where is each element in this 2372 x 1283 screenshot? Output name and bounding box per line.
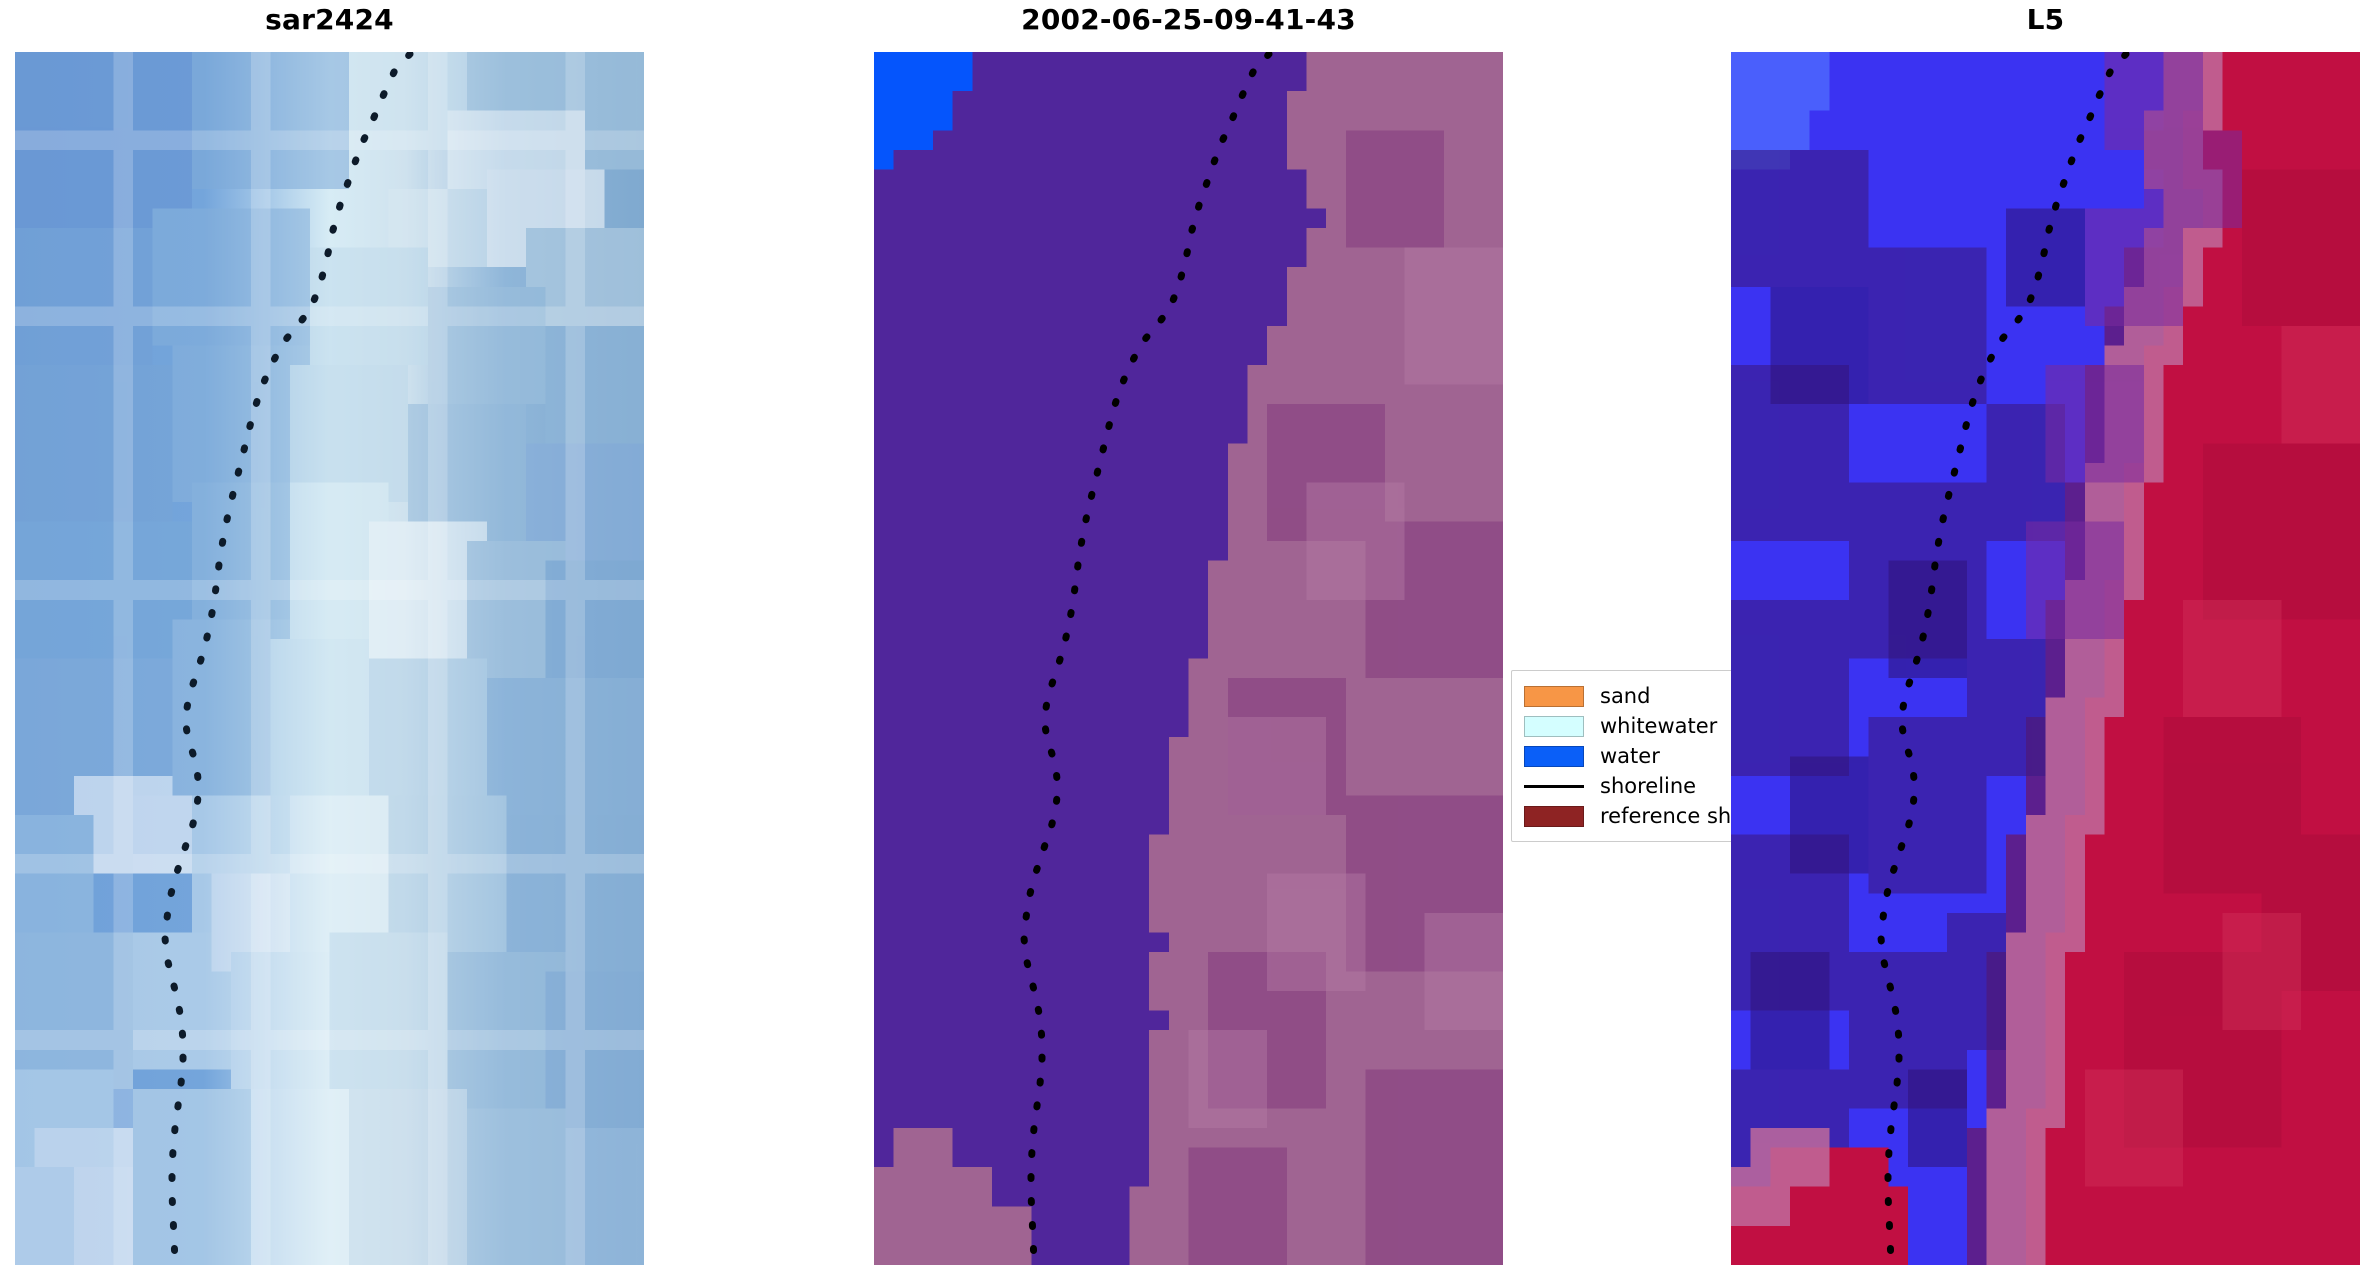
l5-raster-image: [1731, 52, 2360, 1265]
panel-title-sar: sar2424: [15, 6, 644, 34]
legend-item-water: water: [1524, 741, 1748, 771]
figure-canvas: sar2424: [0, 0, 2372, 1283]
legend-label-water: water: [1600, 746, 1660, 767]
legend-item-shoreline: shoreline: [1524, 771, 1748, 801]
classification-raster-image: [874, 52, 1503, 1265]
legend-label-whitewater: whitewater: [1600, 716, 1717, 737]
sar-panel[interactable]: [15, 52, 644, 1265]
legend-item-whitewater: whitewater: [1524, 711, 1748, 741]
classified-panel[interactable]: [874, 52, 1503, 1265]
whitewater-color-swatch: [1524, 716, 1584, 737]
legend-box[interactable]: sand whitewater water shoreline referenc…: [1511, 670, 1761, 842]
panel-title-classified: 2002-06-25-09-41-43: [874, 6, 1503, 34]
water-color-swatch: [1524, 746, 1584, 767]
reference-shoreline-color-swatch: [1524, 806, 1584, 827]
legend-item-reference-shoreline: reference shoreline: [1524, 801, 1748, 831]
sand-color-swatch: [1524, 686, 1584, 707]
legend-label-sand: sand: [1600, 686, 1650, 707]
sar-raster-image: [15, 52, 644, 1265]
l5-panel[interactable]: [1731, 52, 2360, 1265]
panel-title-l5: L5: [1731, 6, 2360, 34]
shoreline-line-swatch: [1524, 776, 1584, 797]
legend-label-shoreline: shoreline: [1600, 776, 1696, 797]
legend-item-sand: sand: [1524, 681, 1748, 711]
